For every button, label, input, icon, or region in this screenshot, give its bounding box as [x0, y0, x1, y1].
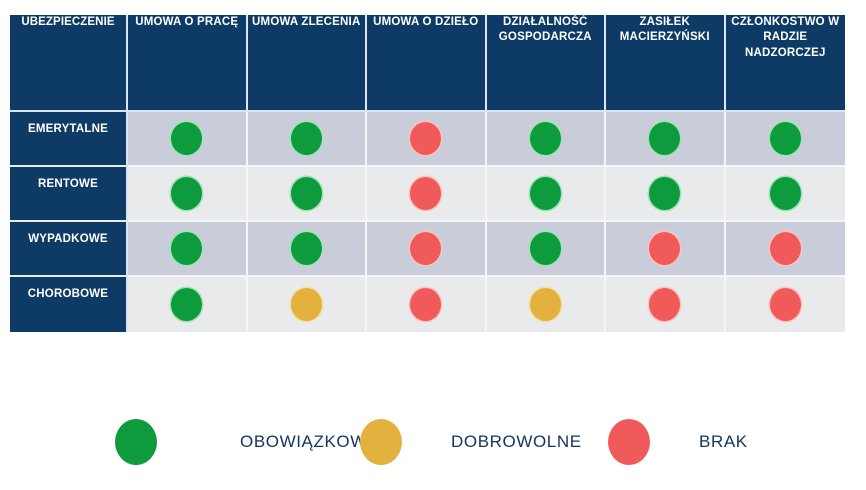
status-dot-red-icon	[649, 288, 680, 321]
status-dot-red-icon	[410, 288, 441, 321]
matrix-cell	[248, 167, 368, 222]
matrix-cell	[367, 112, 487, 167]
matrix-cell	[128, 112, 248, 167]
insurance-matrix-table: UBEZPIECZENIE UMOWA O PRACĘUMOWA ZLECENI…	[10, 15, 845, 332]
matrix-cell	[606, 222, 726, 277]
status-dot-green-icon	[530, 177, 561, 210]
table-header-row: UBEZPIECZENIE UMOWA O PRACĘUMOWA ZLECENI…	[10, 15, 845, 112]
table-body: EMERYTALNERENTOWEWYPADKOWECHOROBOWE	[10, 112, 845, 332]
matrix-cell	[726, 277, 846, 332]
table-row: EMERYTALNE	[10, 112, 845, 167]
column-header-insurance-type: UBEZPIECZENIE	[10, 15, 128, 112]
matrix-cell	[487, 222, 607, 277]
matrix-cell	[726, 167, 846, 222]
row-header-1: EMERYTALNE	[10, 112, 128, 167]
status-dot-red-icon	[410, 177, 441, 210]
matrix-cell	[367, 222, 487, 277]
status-dot-green-icon	[649, 177, 680, 210]
status-dot-green-icon	[770, 177, 801, 210]
status-dot-red-icon	[410, 232, 441, 265]
table-row: WYPADKOWE	[10, 222, 845, 277]
status-dot-green-icon	[530, 232, 561, 265]
column-header-6: CZŁONKOSTWO W RADZIE NADZORCZEJ	[726, 15, 846, 112]
column-header-2: UMOWA ZLECENIA	[248, 15, 368, 112]
legend: OBOWIĄZKOWEDOBROWOLNEBRAK	[0, 412, 866, 482]
matrix-cell	[128, 222, 248, 277]
legend-item-red: BRAK	[608, 416, 748, 468]
status-dot-green-icon	[770, 122, 801, 155]
matrix-cell	[606, 167, 726, 222]
status-dot-yellow-icon	[530, 288, 561, 321]
status-dot-green-icon	[171, 232, 202, 265]
matrix-cell	[726, 222, 846, 277]
column-header-5: ZASIŁEK MACIERZYŃSKI	[606, 15, 726, 112]
status-dot-green-icon	[171, 177, 202, 210]
legend-item-yellow: DOBROWOLNE	[360, 416, 582, 468]
matrix-cell	[128, 167, 248, 222]
legend-swatch-yellow-icon	[360, 419, 402, 465]
status-dot-green-icon	[291, 232, 322, 265]
row-header-4: CHOROBOWE	[10, 277, 128, 332]
legend-label: BRAK	[699, 432, 748, 452]
legend-swatch-green-icon	[115, 419, 157, 465]
matrix-cell	[248, 222, 368, 277]
matrix-cell	[248, 112, 368, 167]
status-dot-green-icon	[291, 177, 322, 210]
column-header-3: UMOWA O DZIEŁO	[367, 15, 487, 112]
status-dot-green-icon	[171, 288, 202, 321]
matrix-cell	[248, 277, 368, 332]
status-dot-green-icon	[171, 122, 202, 155]
status-dot-yellow-icon	[291, 288, 322, 321]
matrix-cell	[726, 112, 846, 167]
matrix-cell	[487, 112, 607, 167]
status-dot-green-icon	[530, 122, 561, 155]
matrix-cell	[606, 277, 726, 332]
status-dot-green-icon	[291, 122, 322, 155]
insurance-matrix-table-container: UBEZPIECZENIE UMOWA O PRACĘUMOWA ZLECENI…	[10, 15, 845, 332]
table-header: UBEZPIECZENIE UMOWA O PRACĘUMOWA ZLECENI…	[10, 15, 845, 112]
column-header-1: UMOWA O PRACĘ	[128, 15, 248, 112]
status-dot-red-icon	[770, 288, 801, 321]
status-dot-red-icon	[770, 232, 801, 265]
matrix-cell	[606, 112, 726, 167]
matrix-cell	[487, 277, 607, 332]
matrix-cell	[128, 277, 248, 332]
table-row: CHOROBOWE	[10, 277, 845, 332]
status-dot-green-icon	[649, 122, 680, 155]
matrix-cell	[367, 277, 487, 332]
legend-label: OBOWIĄZKOWE	[240, 432, 379, 452]
status-dot-red-icon	[649, 232, 680, 265]
matrix-cell	[487, 167, 607, 222]
row-header-2: RENTOWE	[10, 167, 128, 222]
legend-label: DOBROWOLNE	[451, 432, 582, 452]
table-row: RENTOWE	[10, 167, 845, 222]
matrix-cell	[367, 167, 487, 222]
legend-swatch-red-icon	[608, 419, 650, 465]
column-header-4: DZIAŁALNOŚĆ GOSPODARCZA	[487, 15, 607, 112]
legend-item-green: OBOWIĄZKOWE	[115, 416, 379, 468]
insurance-matrix-page: UBEZPIECZENIE UMOWA O PRACĘUMOWA ZLECENI…	[0, 0, 866, 490]
row-header-3: WYPADKOWE	[10, 222, 128, 277]
status-dot-red-icon	[410, 122, 441, 155]
